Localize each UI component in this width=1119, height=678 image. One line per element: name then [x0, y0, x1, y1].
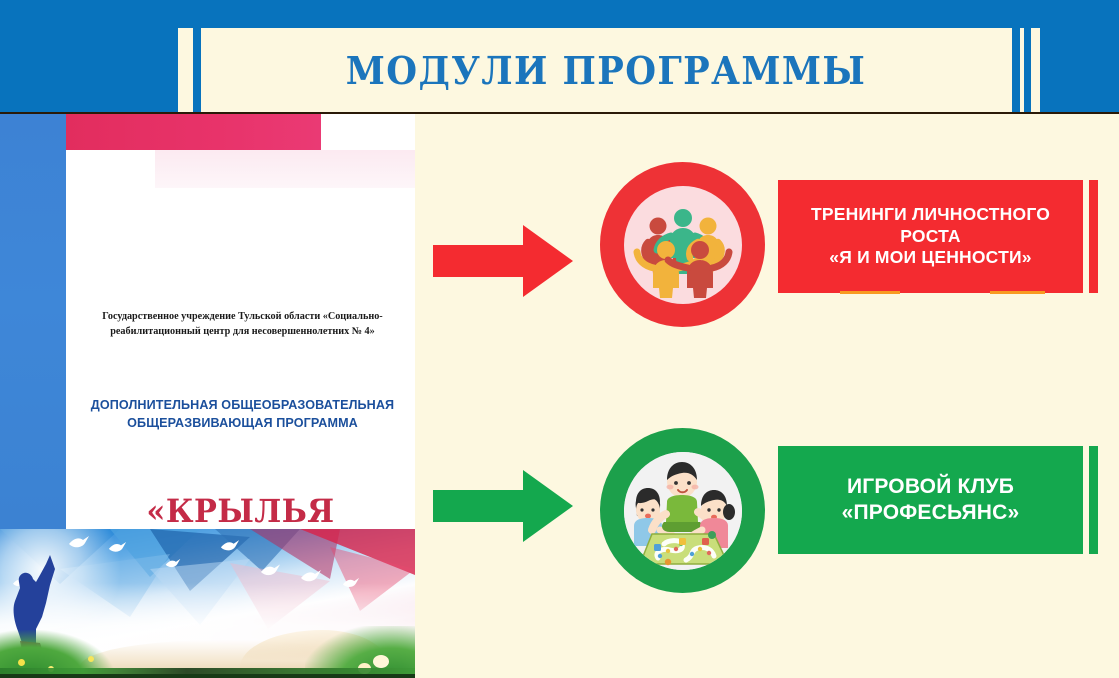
cover-program-type-text: ДОПОЛНИТЕЛЬНАЯ ОБЩЕОБРАЗОВАТЕЛЬНАЯ ОБЩЕР…	[80, 396, 405, 433]
module-training-label-line-1: ТРЕНИНГИ ЛИЧНОСТНОГО	[811, 204, 1050, 225]
arrow-right-icon-green	[433, 470, 573, 542]
board-game-children-icon	[624, 452, 742, 570]
module-game-club-icon-ring	[600, 428, 765, 593]
header-stripe-right-1	[1012, 28, 1020, 113]
slide-root: МОДУЛИ ПРОГРАММЫ Государственное учрежде…	[0, 0, 1119, 678]
module-game-club-label-box[interactable]: ИГРОВОЙ КЛУБ «ПРОФЕСЬЯНС»	[778, 446, 1083, 554]
program-cover-image: Государственное учреждение Тульской обла…	[0, 114, 415, 678]
dove-icon	[108, 541, 127, 555]
cover-bottom-edge	[0, 674, 415, 678]
flower-dot	[373, 655, 389, 668]
header-stripe-left	[193, 28, 201, 113]
module-training-label: ТРЕНИНГИ ЛИЧНОСТНОГО РОСТА «Я И МОИ ЦЕНН…	[811, 204, 1050, 268]
module-training-underline-accent-2	[990, 291, 1045, 294]
module-game-club-label-line-2: «ПРОФЕСЬЯНС»	[842, 500, 1020, 526]
cover-blue-spine	[0, 114, 66, 529]
page-title: МОДУЛИ ПРОГРАММЫ	[228, 33, 983, 108]
dove-icon	[260, 563, 281, 579]
dove-icon	[300, 569, 322, 585]
module-training-label-box[interactable]: ТРЕНИНГИ ЛИЧНОСТНОГО РОСТА «Я И МОИ ЦЕНН…	[778, 180, 1083, 293]
module-game-club-label: ИГРОВОЙ КЛУБ «ПРОФЕСЬЯНС»	[842, 474, 1020, 525]
cover-pink-wash	[155, 150, 415, 188]
dove-icon	[220, 539, 240, 554]
cover-artwork	[0, 529, 415, 678]
cover-magenta-band	[66, 114, 321, 150]
dove-icon	[68, 535, 90, 551]
module-game-club-label-line-1: ИГРОВОЙ КЛУБ	[842, 474, 1020, 500]
flower-dot	[88, 656, 94, 662]
arrow-right-icon-red	[433, 225, 573, 297]
module-training-icon-ring	[600, 162, 765, 327]
header-stripe-right-2	[1024, 28, 1031, 113]
module-training-label-line-2: РОСТА	[811, 226, 1050, 247]
cover-organization-text: Государственное учреждение Тульской обла…	[80, 310, 405, 340]
children-board-game-svg	[624, 452, 742, 570]
people-holding-hands-svg	[624, 186, 742, 304]
module-training-side-bar	[1089, 180, 1098, 293]
module-game-club-side-bar	[1089, 446, 1098, 554]
dove-icon	[165, 558, 181, 570]
flower-dot	[18, 659, 25, 666]
dove-icon	[342, 577, 360, 590]
module-training-underline-accent-1	[840, 291, 900, 294]
people-circle-icon	[624, 186, 742, 304]
module-training-label-line-3: «Я И МОИ ЦЕННОСТИ»	[811, 247, 1050, 268]
